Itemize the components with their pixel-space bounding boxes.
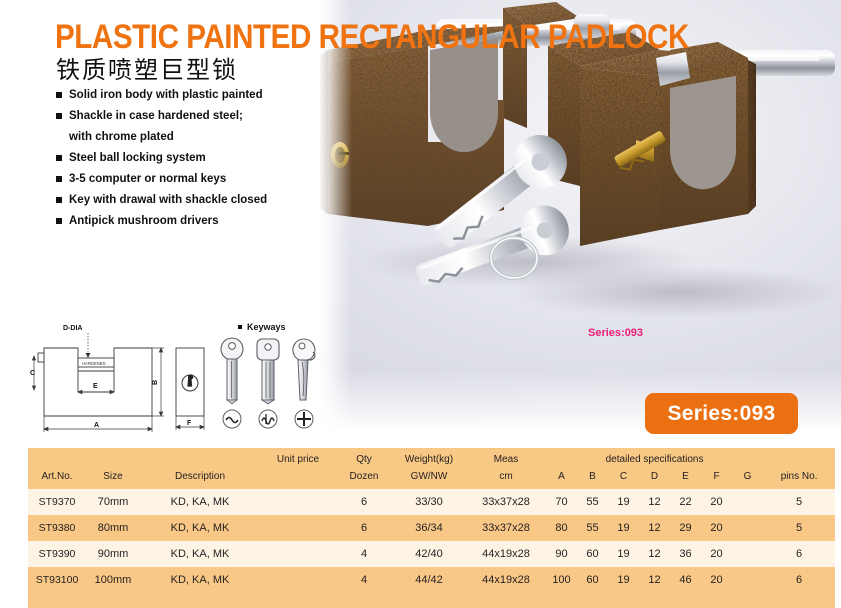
label-d-dia: D-DIA: [63, 325, 82, 332]
padlock-front: [548, 32, 835, 246]
specifications-table: Unit price Qty Weight(kg) Meas detailed …: [28, 448, 835, 608]
header-dim-f: F: [701, 467, 732, 489]
product-photo-panel: HARDENED: [318, 0, 841, 440]
cell-unit-price: [260, 515, 336, 541]
table-row: ST93100 100mm KD, KA, MK 4 44/42 44x19x2…: [28, 567, 835, 593]
cell-dim-c: 19: [608, 489, 639, 515]
cell-dim-g: [732, 515, 763, 541]
key-round-head: [221, 338, 243, 404]
cell-dim-c: 19: [608, 515, 639, 541]
label-e: E: [93, 383, 98, 390]
cell-dim-f: 20: [701, 515, 732, 541]
cell-art-no: ST9380: [28, 515, 86, 541]
feature-text: Steel ball locking system: [69, 151, 206, 165]
feature-text: 3-5 computer or normal keys: [69, 172, 226, 186]
header-blank: [763, 448, 835, 467]
header-dim-d: D: [639, 467, 670, 489]
header-dim-g: G: [732, 467, 763, 489]
header-qty-line2: Dozen: [336, 467, 392, 489]
cell-dim-d: 12: [639, 489, 670, 515]
header-meas-line2: cm: [466, 467, 546, 489]
cell-dim-d: 12: [639, 567, 670, 593]
cell-art-no: ST9390: [28, 541, 86, 567]
feature-list: Solid iron body with plastic painted Sha…: [56, 88, 326, 235]
bullet-square-icon: [56, 197, 62, 203]
cell-dim-b: 55: [577, 489, 608, 515]
list-item: Antipick mushroom drivers: [56, 214, 326, 228]
cell-pins: 6: [763, 567, 835, 593]
cell-size: 90mm: [86, 541, 140, 567]
cell-dim-e: 22: [670, 489, 701, 515]
cell-dim-e: 29: [670, 515, 701, 541]
cell-art-no: ST9370: [28, 489, 86, 515]
cell-description: KD, KA, MK: [140, 567, 260, 593]
series-badge: Series:093: [645, 393, 798, 434]
cell-unit-price: [260, 567, 336, 593]
cell-dim-d: 12: [639, 515, 670, 541]
header-dim-e: E: [670, 467, 701, 489]
table-header-row-top: Unit price Qty Weight(kg) Meas detailed …: [28, 448, 835, 467]
cell-size: 80mm: [86, 515, 140, 541]
cell-dim-g: [732, 489, 763, 515]
keyway-profile-double-wave: [259, 410, 277, 428]
header-detailed-specifications: detailed specifications: [546, 448, 763, 467]
header-dim-a: A: [546, 467, 577, 489]
list-item: Steel ball locking system: [56, 151, 326, 165]
cell-dim-a: 70: [546, 489, 577, 515]
header-qty-line1: Qty: [336, 448, 392, 467]
cell-dim-a: 100: [546, 567, 577, 593]
key-teardrop-head: [293, 339, 315, 400]
keyways-heading: Keyways: [238, 322, 318, 332]
series-photo-label: Series:093: [588, 327, 643, 339]
label-a: A: [94, 422, 99, 429]
header-pins-no: pins No.: [763, 467, 835, 489]
table-body: ST9370 70mm KD, KA, MK 6 33/30 33x37x28 …: [28, 489, 835, 608]
bullet-square-icon: [56, 92, 62, 98]
header-dim-b: B: [577, 467, 608, 489]
cell-dim-e: 46: [670, 567, 701, 593]
header-art-no: Art.No.: [28, 467, 86, 489]
cell-qty-dozen: 6: [336, 515, 392, 541]
keyway-illustrations: [218, 336, 318, 434]
label-hardened: HARDENED: [82, 361, 106, 366]
header-unit-price-line1: Unit price: [260, 448, 336, 467]
cell-dim-d: 12: [639, 541, 670, 567]
label-f: F: [187, 420, 192, 427]
cell-unit-price: [260, 489, 336, 515]
cell-dim-a: 80: [546, 515, 577, 541]
feature-text: Key with drawal with shackle closed: [69, 193, 267, 207]
cell-weight: 42/40: [392, 541, 466, 567]
feature-text: Solid iron body with plastic painted: [69, 88, 263, 102]
cell-meas: 33x37x28: [466, 489, 546, 515]
cell-dim-c: 19: [608, 541, 639, 567]
cell-dim-c: 19: [608, 567, 639, 593]
cell-description: KD, KA, MK: [140, 489, 260, 515]
table-header: Unit price Qty Weight(kg) Meas detailed …: [28, 448, 835, 489]
cell-dim-b: 55: [577, 515, 608, 541]
bullet-square-icon: [238, 325, 242, 329]
cell-dim-f: 20: [701, 489, 732, 515]
bullet-square-icon: [56, 113, 62, 119]
page-title: PLASTIC PAINTED RECTANGULAR PADLOCK: [55, 20, 689, 54]
header-weight-line2: GW/NW: [392, 467, 466, 489]
cell-weight: 44/42: [392, 567, 466, 593]
header-blank: [28, 448, 86, 467]
header-unit-price-line2: [260, 467, 336, 489]
bullet-square-icon: [56, 176, 62, 182]
list-item: 3-5 computer or normal keys: [56, 172, 326, 186]
cell-description: KD, KA, MK: [140, 541, 260, 567]
cell-dim-b: 60: [577, 541, 608, 567]
header-blank: [140, 448, 260, 467]
cell-unit-price: [260, 541, 336, 567]
cell-dim-f: 20: [701, 541, 732, 567]
list-item-continuation: with chrome plated: [56, 130, 326, 144]
cell-size: 100mm: [86, 567, 140, 593]
key-square-head: [257, 339, 279, 404]
keyways-title-text: Keyways: [247, 322, 286, 332]
table-row: ST9370 70mm KD, KA, MK 6 33/30 33x37x28 …: [28, 489, 835, 515]
cell-dim-b: 60: [577, 567, 608, 593]
cell-qty-dozen: 4: [336, 541, 392, 567]
header-meas-line1: Meas: [466, 448, 546, 467]
product-catalog-page: HARDENED: [0, 0, 841, 608]
table-bottom-spacer: [28, 593, 835, 608]
table-bottom-spacer-cell: [28, 593, 835, 608]
technical-drawing: D-DIA HARDENED E B: [30, 315, 215, 440]
label-c: C: [30, 370, 35, 377]
feature-text: Shackle in case hardened steel;: [69, 109, 243, 123]
cell-dim-e: 36: [670, 541, 701, 567]
table-row: ST9390 90mm KD, KA, MK 4 42/40 44x19x28 …: [28, 541, 835, 567]
cell-art-no: ST93100: [28, 567, 86, 593]
cell-pins: 6: [763, 541, 835, 567]
cell-meas: 44x19x28: [466, 567, 546, 593]
keyway-profile-cross: [295, 410, 313, 428]
cell-meas: 33x37x28: [466, 515, 546, 541]
cell-pins: 5: [763, 515, 835, 541]
list-item: Key with drawal with shackle closed: [56, 193, 326, 207]
cell-dim-g: [732, 567, 763, 593]
feature-text: Antipick mushroom drivers: [69, 214, 219, 228]
bullet-square-icon: [56, 155, 62, 161]
label-b: B: [152, 380, 159, 385]
table-header-row-bottom: Art.No. Size Description Dozen GW/NW cm …: [28, 467, 835, 489]
cell-meas: 44x19x28: [466, 541, 546, 567]
feature-text: with chrome plated: [69, 130, 174, 144]
cell-pins: 5: [763, 489, 835, 515]
bullet-square-icon: [56, 218, 62, 224]
header-description: Description: [140, 467, 260, 489]
header-blank: [86, 448, 140, 467]
page-subtitle-chinese: 铁质喷塑巨型锁: [56, 57, 238, 83]
list-item: Solid iron body with plastic painted: [56, 88, 326, 102]
table-row: ST9380 80mm KD, KA, MK 6 36/34 33x37x28 …: [28, 515, 835, 541]
keyway-profile-wave: [223, 410, 241, 428]
cell-qty-dozen: 6: [336, 489, 392, 515]
cell-weight: 33/30: [392, 489, 466, 515]
cell-weight: 36/34: [392, 515, 466, 541]
cell-description: KD, KA, MK: [140, 515, 260, 541]
header-weight-line1: Weight(kg): [392, 448, 466, 467]
keyways-section: Keyways: [218, 322, 318, 440]
cell-qty-dozen: 4: [336, 567, 392, 593]
cell-dim-g: [732, 541, 763, 567]
cell-dim-a: 90: [546, 541, 577, 567]
header-dim-c: C: [608, 467, 639, 489]
list-item: Shackle in case hardened steel;: [56, 109, 326, 123]
cell-dim-f: 20: [701, 567, 732, 593]
cell-size: 70mm: [86, 489, 140, 515]
header-size: Size: [86, 467, 140, 489]
